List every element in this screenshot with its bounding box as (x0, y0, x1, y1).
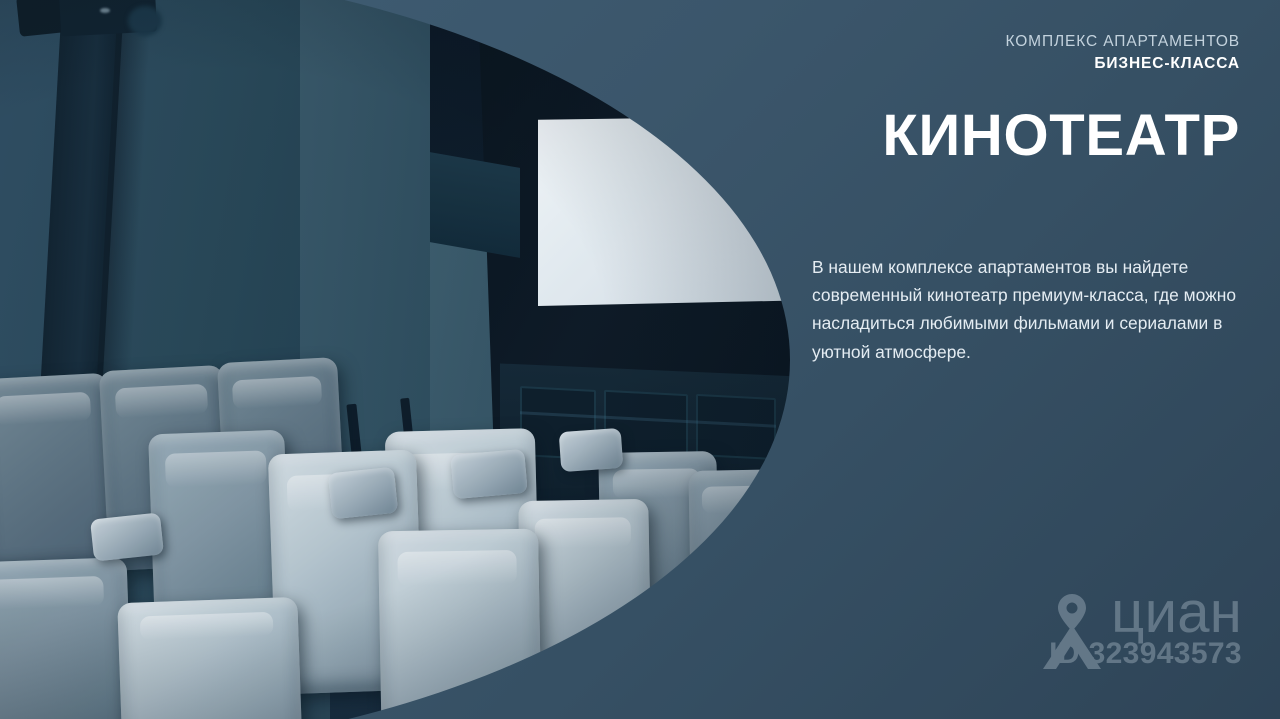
photo-vignette (0, 0, 800, 719)
eyebrow-line-1: КОМПЛЕКС АПАРТАМЕНТОВ (1006, 32, 1241, 52)
eyebrow-line-2: БИЗНЕС-КЛАССА (1006, 54, 1241, 74)
page-title: КИНОТЕАТР (882, 106, 1240, 166)
cinema-photo (0, 0, 800, 719)
text-panel: КОМПЛЕКС АПАРТАМЕНТОВ БИЗНЕС-КЛАССА КИНО… (800, 0, 1280, 719)
promo-slide: КОМПЛЕКС АПАРТАМЕНТОВ БИЗНЕС-КЛАССА КИНО… (0, 0, 1280, 719)
eyebrow-heading: КОМПЛЕКС АПАРТАМЕНТОВ БИЗНЕС-КЛАССА (1006, 32, 1241, 75)
description-text: В нашем комплексе апартаментов вы найдет… (812, 253, 1262, 366)
cinema-photo-image (0, 0, 800, 719)
